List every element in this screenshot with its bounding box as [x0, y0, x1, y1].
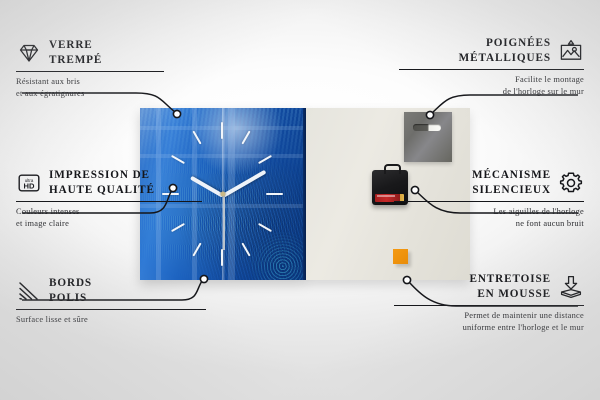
framed-picture-icon — [558, 38, 584, 64]
callout-sub-line1: Facilite le montage — [388, 74, 584, 86]
callout-verre-trempe[interactable]: VERRE TREMPÉ Résistant aux bris et aux é… — [16, 38, 222, 100]
callout-sub-line1: Les aiguilles de l'horloge — [394, 206, 584, 218]
foam-spacer-square — [393, 249, 408, 264]
callout-entretoise-en-mousse[interactable]: ENTRETOISE EN MOUSSE Permet de maintenir… — [394, 272, 584, 334]
hanger-keyhole-slot — [413, 124, 441, 131]
callout-mecanisme-silencieux[interactable]: MÉCANISME SILENCIEUX Les aiguilles de l'… — [394, 168, 584, 230]
callout-rule — [16, 309, 206, 311]
diamond-icon — [16, 40, 42, 66]
callout-sub-line2: et aux égratignures — [16, 88, 222, 100]
callout-header: POIGNÉES MÉTALLIQUES — [388, 36, 584, 66]
callout-title-line2: TREMPÉ — [49, 53, 102, 68]
callout-sub-line1: Permet de maintenir une distance — [394, 310, 584, 322]
callout-title-line2: MÉTALLIQUES — [459, 51, 551, 66]
callout-title-line2: SILENCIEUX — [472, 183, 551, 198]
infographic-canvas: VERRE TREMPÉ Résistant aux bris et aux é… — [0, 0, 600, 400]
down-arrow-slab-icon — [558, 274, 584, 300]
callout-poignees-metalliques[interactable]: POIGNÉES MÉTALLIQUES Facilite le montage… — [388, 36, 584, 98]
callout-rule — [16, 201, 202, 203]
callout-sub-line1: Résistant aux bris — [16, 76, 222, 88]
ultra-hd-icon: ultra HD — [16, 170, 42, 196]
callout-title-line1: ENTRETOISE — [469, 272, 551, 287]
metal-hanger-plate — [404, 112, 452, 162]
polished-edge-icon — [16, 278, 42, 304]
callout-rule — [16, 71, 164, 73]
callout-header: ENTRETOISE EN MOUSSE — [394, 272, 584, 302]
callout-sub-line2: uniforme entre l'horloge et le mur — [394, 322, 584, 334]
callout-title-line1: MÉCANISME — [472, 168, 551, 183]
battery-label — [377, 195, 395, 197]
callout-rule — [394, 201, 584, 203]
callout-title-line1: VERRE — [49, 38, 102, 53]
callout-impression-haute-qualite[interactable]: ultra HD IMPRESSION DE HAUTE QUALITÉ Cou… — [16, 168, 222, 230]
callout-bords-polis[interactable]: BORDS POLIS Surface lisse et sûre — [16, 276, 222, 326]
callout-title-line1: IMPRESSION DE — [49, 168, 155, 183]
callout-title-line2: POLIS — [49, 291, 92, 306]
callout-sub-line2: et image claire — [16, 218, 222, 230]
callout-sub-line2: de l'horloge sur le mur — [388, 86, 584, 98]
callout-sub-line1: Couleurs intenses — [16, 206, 222, 218]
callout-title-line2: HAUTE QUALITÉ — [49, 183, 155, 198]
callout-header: BORDS POLIS — [16, 276, 222, 306]
callout-header: ultra HD IMPRESSION DE HAUTE QUALITÉ — [16, 168, 222, 198]
callout-sub-line1: Surface lisse et sûre — [16, 314, 222, 326]
callout-rule — [394, 305, 584, 307]
callout-header: VERRE TREMPÉ — [16, 38, 222, 68]
callout-header: MÉCANISME SILENCIEUX — [394, 168, 584, 198]
callout-sub-line2: ne font aucun bruit — [394, 218, 584, 230]
gear-icon — [558, 170, 584, 196]
callout-title-line1: POIGNÉES — [459, 36, 551, 51]
callout-title-line1: BORDS — [49, 276, 92, 291]
svg-text:HD: HD — [24, 181, 35, 190]
callout-title-line2: EN MOUSSE — [469, 287, 551, 302]
callout-rule — [399, 69, 584, 71]
